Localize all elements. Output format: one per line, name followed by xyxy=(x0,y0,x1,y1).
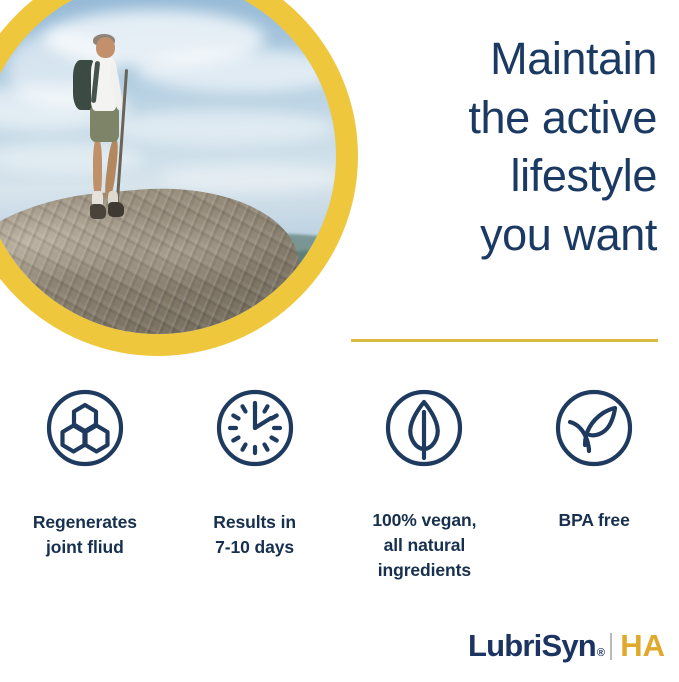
feature-item-vegan-natural-ingredients: 100% vegan, all natural ingredients xyxy=(340,388,510,583)
registered-trademark-icon: ® xyxy=(597,647,604,659)
hiker-head xyxy=(96,37,115,58)
feature-label-line-2: joint fliud xyxy=(46,537,124,557)
hiker-figure xyxy=(65,37,161,229)
feature-item-regenerates-joint-fluid: Regenerates joint fliud xyxy=(0,388,170,583)
hiker-leg xyxy=(93,139,102,199)
hiker-boot xyxy=(90,204,105,219)
logo-syn-text: Syn xyxy=(541,628,595,664)
feature-label-line-1: Regenerates xyxy=(33,512,137,532)
feature-label: BPA free xyxy=(559,508,630,533)
feature-item-results-in-days: Results in 7-10 days xyxy=(170,388,340,583)
headline: Maintain the active lifestyle you want xyxy=(345,30,657,264)
feature-item-bpa-free: BPA free xyxy=(509,388,679,583)
hiker-boot xyxy=(108,202,124,217)
feature-label-line-1: 100% vegan, xyxy=(372,510,476,530)
feature-label: Results in 7-10 days xyxy=(213,510,296,560)
headline-line-3: lifestyle xyxy=(345,147,657,206)
sprout-icon xyxy=(554,388,634,468)
logo-divider xyxy=(610,633,612,660)
cloud xyxy=(137,49,336,92)
hiker-shorts xyxy=(90,106,119,143)
headline-line-2: the active xyxy=(345,89,657,148)
clock-icon xyxy=(215,388,295,468)
brand-logo: Lubri Syn ® HA xyxy=(468,628,665,664)
headline-line-1: Maintain xyxy=(345,30,657,89)
hero-photo xyxy=(0,0,336,334)
feature-label-line-2: all natural xyxy=(384,535,466,555)
logo-ha-text: HA xyxy=(620,628,665,664)
feature-label-line-2: 7-10 days xyxy=(215,537,294,557)
feature-label: Regenerates joint fliud xyxy=(33,510,137,560)
leaf-icon xyxy=(384,388,464,468)
gold-divider-rule xyxy=(351,339,658,342)
honeycomb-icon xyxy=(45,388,125,468)
feature-label-line-3: ingredients xyxy=(378,560,471,580)
cloud xyxy=(158,163,336,191)
feature-label-line-1: Results in xyxy=(213,512,296,532)
feature-list: Regenerates joint fliud xyxy=(0,388,679,583)
headline-line-4: you want xyxy=(345,206,657,265)
feature-label-line-1: BPA free xyxy=(559,510,630,530)
logo-lubri-text: Lubri xyxy=(468,628,542,664)
hero-image-container xyxy=(0,0,358,356)
feature-label: 100% vegan, all natural ingredients xyxy=(372,508,476,583)
